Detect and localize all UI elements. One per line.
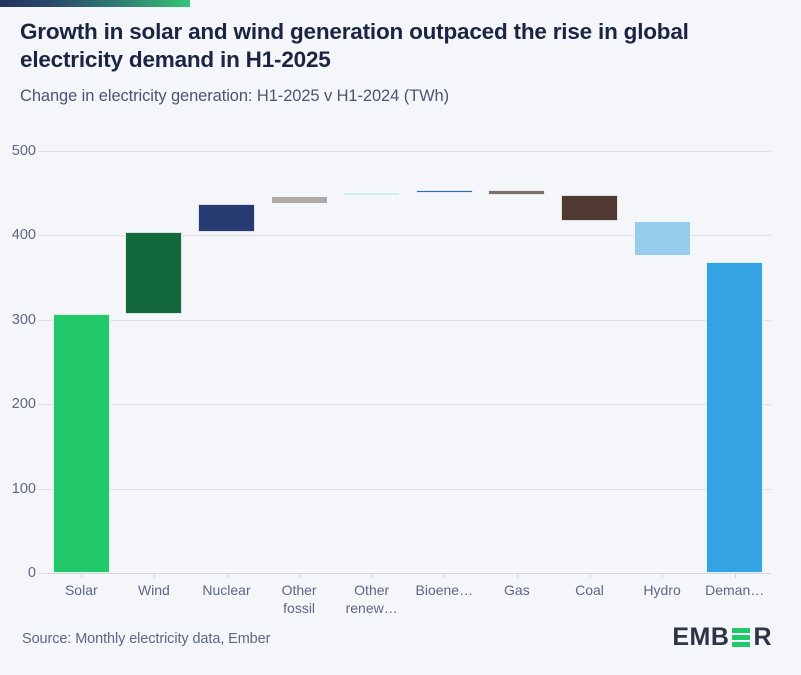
brand-accent-bar [0, 0, 190, 7]
y-tick-label: 0 [28, 565, 36, 581]
x-tick-mark [444, 573, 445, 578]
x-tick-mark [517, 573, 518, 578]
y-tick-label: 200 [12, 396, 36, 412]
ember-logo-e-icon [732, 628, 750, 647]
gridline [45, 489, 771, 490]
bar-coal[interactable] [561, 195, 618, 221]
x-tick-mark [154, 573, 155, 578]
bar-hydro[interactable] [634, 221, 691, 256]
bar-otherfossil[interactable] [271, 196, 328, 204]
bar-gas[interactable] [488, 190, 545, 195]
bar-bioene[interactable] [416, 190, 473, 193]
chart-subtitle: Change in electricity generation: H1-202… [20, 87, 781, 107]
bar-nuclear[interactable] [198, 204, 255, 232]
gridline [45, 320, 771, 321]
y-tick-label: 100 [12, 481, 36, 497]
y-tick-label: 300 [12, 312, 36, 328]
x-tick-mark [735, 573, 736, 578]
x-tick-mark [227, 573, 228, 578]
ember-logo: EMB R [672, 625, 772, 650]
x-tick-mark [372, 573, 373, 578]
bar-wind[interactable] [125, 232, 182, 314]
bar-deman[interactable] [706, 262, 763, 573]
y-tick-mark [38, 235, 45, 236]
bar-otherrenew[interactable] [343, 192, 400, 196]
x-tick-mark [299, 573, 300, 578]
ember-logo-tail: R [753, 625, 772, 650]
chart-header: Growth in solar and wind generation outp… [20, 18, 781, 106]
x-tick-mark [662, 573, 663, 578]
plot-wrapper: 0100200300400500 SolarWindNuclearOther f… [0, 135, 801, 615]
y-tick-mark [38, 320, 45, 321]
x-tick-mark [590, 573, 591, 578]
y-tick-label: 500 [12, 143, 36, 159]
bar-solar[interactable] [53, 314, 110, 573]
chart-title: Growth in solar and wind generation outp… [20, 18, 781, 75]
y-tick-mark [38, 489, 45, 490]
y-tick-mark [38, 573, 45, 574]
y-tick-label: 400 [12, 227, 36, 243]
y-tick-mark [38, 151, 45, 152]
ember-logo-lead: EMB [672, 625, 729, 650]
plot-area: 0100200300400500 SolarWindNuclearOther f… [45, 151, 771, 573]
x-tick-label: Deman… [690, 582, 780, 600]
chart-card: Growth in solar and wind generation outp… [0, 0, 801, 675]
y-tick-mark [38, 404, 45, 405]
gridline [45, 151, 771, 152]
source-note: Source: Monthly electricity data, Ember [22, 631, 270, 647]
chart-footer: Source: Monthly electricity data, Ember … [0, 617, 801, 675]
x-tick-mark [81, 573, 82, 578]
gridline [45, 404, 771, 405]
